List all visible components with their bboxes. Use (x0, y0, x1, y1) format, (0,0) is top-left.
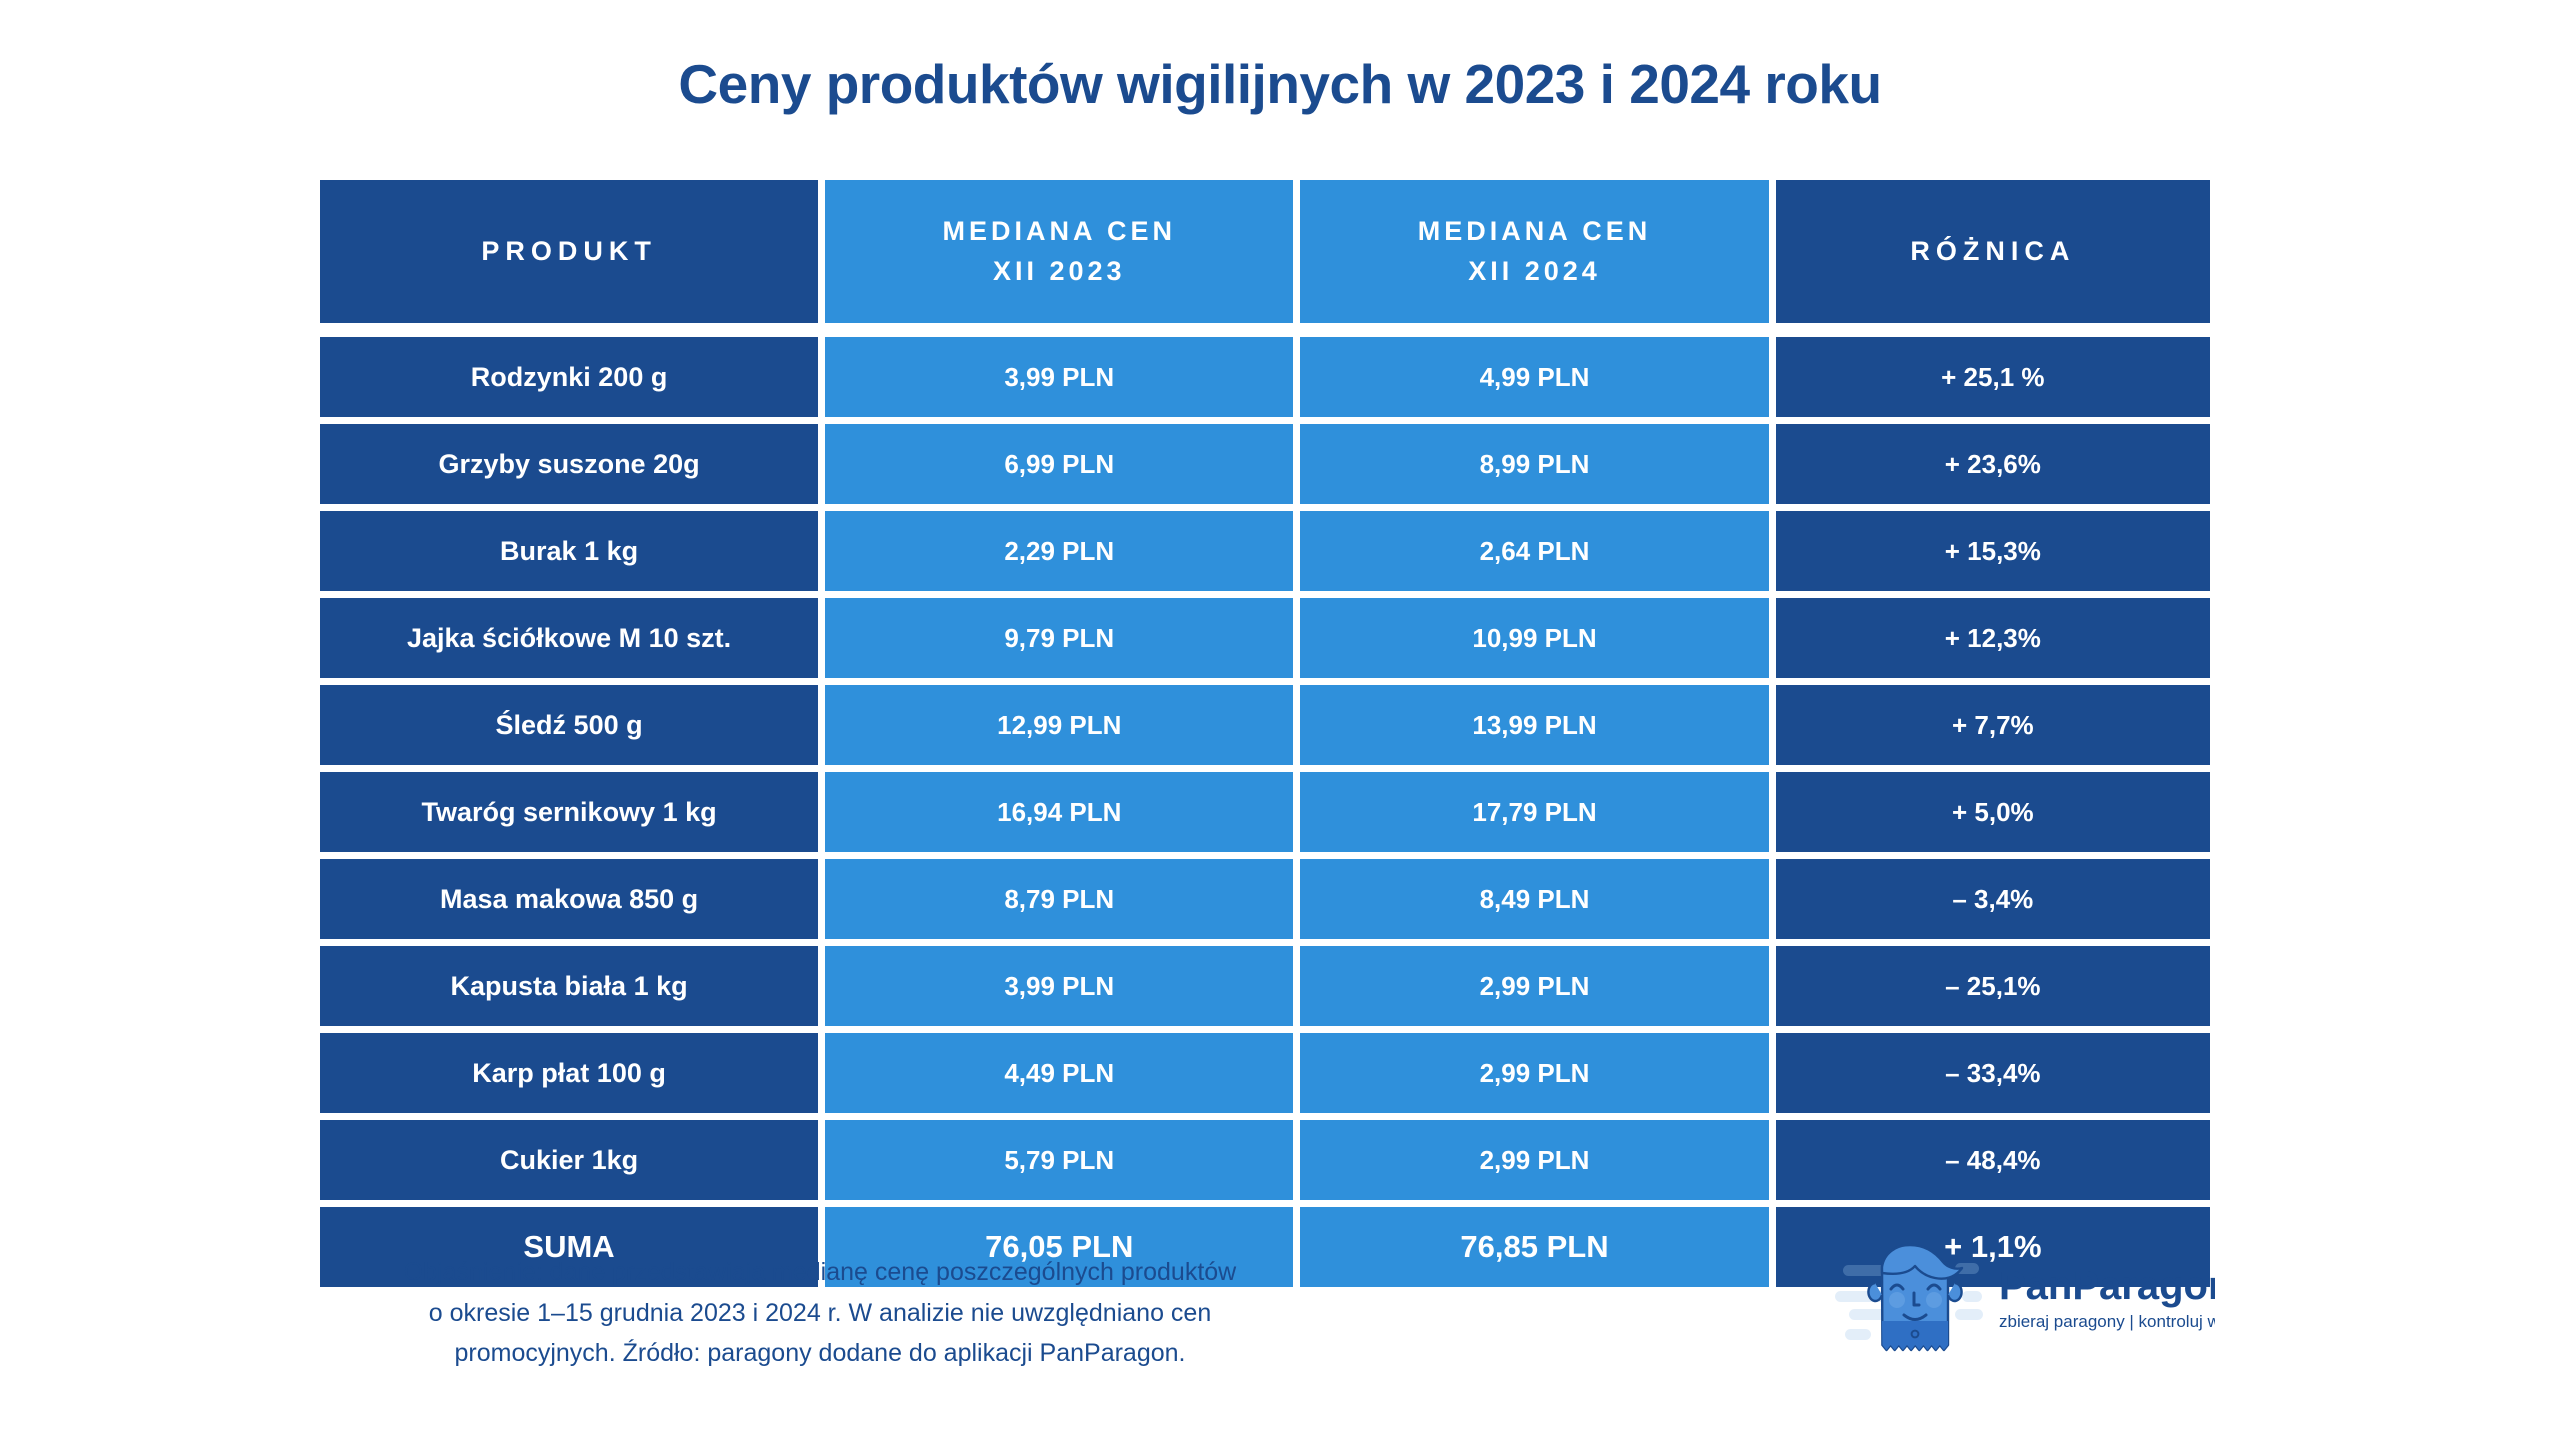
table-row: Grzyby suszone 20g6,99 PLN8,99 PLN+ 23,6… (320, 424, 2210, 504)
cell-median-2023: 3,99 PLN (825, 946, 1293, 1026)
cell-median-2024: 76,85 PLN (1300, 1207, 1768, 1287)
cell-product: Masa makowa 850 g (320, 859, 818, 939)
table-header-row: PRODUKT MEDIANA CEN XII 2023 MEDIANA CEN… (320, 180, 2210, 323)
cell-difference: – 3,4% (1776, 859, 2210, 939)
cell-product: Burak 1 kg (320, 511, 818, 591)
cell-difference: + 15,3% (1776, 511, 2210, 591)
table-row: Twaróg sernikowy 1 kg16,94 PLN17,79 PLN+… (320, 772, 2210, 852)
header-median-2023-line2: XII 2023 (943, 252, 1177, 291)
cell-median-2024: 13,99 PLN (1300, 685, 1768, 765)
table-row: Cukier 1kg5,79 PLN2,99 PLN– 48,4% (320, 1120, 2210, 1200)
cell-difference: + 23,6% (1776, 424, 2210, 504)
cell-product: Śledź 500 g (320, 685, 818, 765)
cell-median-2023: 6,99 PLN (825, 424, 1293, 504)
cell-difference: + 25,1 % (1776, 337, 2210, 417)
cell-difference: – 33,4% (1776, 1033, 2210, 1113)
cell-median-2024: 2,99 PLN (1300, 1120, 1768, 1200)
table-body: Rodzynki 200 g3,99 PLN4,99 PLN+ 25,1 %Gr… (320, 337, 2210, 1287)
cell-median-2024: 17,79 PLN (1300, 772, 1768, 852)
cell-median-2024: 2,99 PLN (1300, 946, 1768, 1026)
cell-median-2023: 9,79 PLN (825, 598, 1293, 678)
cell-product: Rodzynki 200 g (320, 337, 818, 417)
cell-median-2024: 10,99 PLN (1300, 598, 1768, 678)
table-row: Burak 1 kg2,29 PLN2,64 PLN+ 15,3% (320, 511, 2210, 591)
cell-difference: – 48,4% (1776, 1120, 2210, 1200)
table-row: Jajka ściółkowe M 10 szt.9,79 PLN10,99 P… (320, 598, 2210, 678)
cell-median-2023: 4,49 PLN (825, 1033, 1293, 1113)
cell-product: Twaróg sernikowy 1 kg (320, 772, 818, 852)
cell-product: Jajka ściółkowe M 10 szt. (320, 598, 818, 678)
table-row: Karp płat 100 g4,49 PLN2,99 PLN– 33,4% (320, 1033, 2210, 1113)
price-comparison-table: PRODUKT MEDIANA CEN XII 2023 MEDIANA CEN… (320, 180, 2210, 1287)
table-row: Kapusta biała 1 kg3,99 PLN2,99 PLN– 25,1… (320, 946, 2210, 1026)
cell-difference: + 7,7% (1776, 685, 2210, 765)
cell-median-2023: 3,99 PLN (825, 337, 1293, 417)
footnote: Objaśnienie: dane przedstawiają medianę … (290, 1252, 1350, 1374)
header-median-2024-line1: MEDIANA CEN (1418, 212, 1652, 251)
cell-median-2024: 4,99 PLN (1300, 337, 1768, 417)
cell-median-2023: 16,94 PLN (825, 772, 1293, 852)
footnote-line-1: Objaśnienie: dane przedstawiają medianę … (290, 1252, 1350, 1293)
cell-median-2023: 2,29 PLN (825, 511, 1293, 591)
header-product: PRODUKT (320, 180, 818, 323)
page-title: Ceny produktów wigilijnych w 2023 i 2024… (0, 52, 2560, 116)
cell-difference: – 25,1% (1776, 946, 2210, 1026)
table-row: Masa makowa 850 g8,79 PLN8,49 PLN– 3,4% (320, 859, 2210, 939)
header-difference: RÓŻNICA (1776, 180, 2210, 323)
cell-median-2023: 8,79 PLN (825, 859, 1293, 939)
header-median-2023: MEDIANA CEN XII 2023 (825, 180, 1293, 323)
cell-difference: + 12,3% (1776, 598, 2210, 678)
logo-tagline: zbieraj paragony | kontroluj wydatki (1999, 1312, 2215, 1331)
cell-product: Karp płat 100 g (320, 1033, 818, 1113)
header-median-2024: MEDIANA CEN XII 2024 (1300, 180, 1768, 323)
table-row: Rodzynki 200 g3,99 PLN4,99 PLN+ 25,1 % (320, 337, 2210, 417)
cell-difference: + 5,0% (1776, 772, 2210, 852)
footnote-line-2: o okresie 1–15 grudnia 2023 i 2024 r. W … (290, 1293, 1350, 1334)
logo-mascot-receipt (1868, 1245, 1962, 1350)
footnote-line-3: promocyjnych. Źródło: paragony dodane do… (290, 1333, 1350, 1374)
cell-product: Cukier 1kg (320, 1120, 818, 1200)
cell-median-2023: 12,99 PLN (825, 685, 1293, 765)
cell-median-2024: 2,99 PLN (1300, 1033, 1768, 1113)
cell-product: Kapusta biała 1 kg (320, 946, 818, 1026)
cell-product: Grzyby suszone 20g (320, 424, 818, 504)
cell-median-2024: 8,49 PLN (1300, 859, 1768, 939)
header-median-2024-line2: XII 2024 (1418, 252, 1652, 291)
cell-median-2024: 8,99 PLN (1300, 424, 1768, 504)
logo-wordmark: PanParagon (1999, 1264, 2215, 1308)
cell-median-2024: 2,64 PLN (1300, 511, 1768, 591)
panparagon-logo: PanParagon zbieraj paragony | kontroluj … (1835, 1243, 2215, 1368)
header-median-2023-line1: MEDIANA CEN (943, 212, 1177, 251)
table-row: Śledź 500 g12,99 PLN13,99 PLN+ 7,7% (320, 685, 2210, 765)
cell-median-2023: 5,79 PLN (825, 1120, 1293, 1200)
infographic-page: Ceny produktów wigilijnych w 2023 i 2024… (0, 0, 2560, 1440)
